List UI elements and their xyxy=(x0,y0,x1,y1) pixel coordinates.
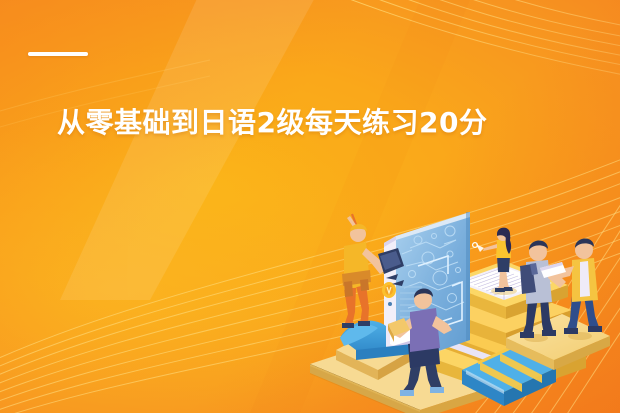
course-banner: 从零基础到日语2级每天练习20分 xyxy=(0,0,620,413)
coin-badge xyxy=(382,282,396,298)
isometric-books-and-people-illustration xyxy=(300,178,620,413)
